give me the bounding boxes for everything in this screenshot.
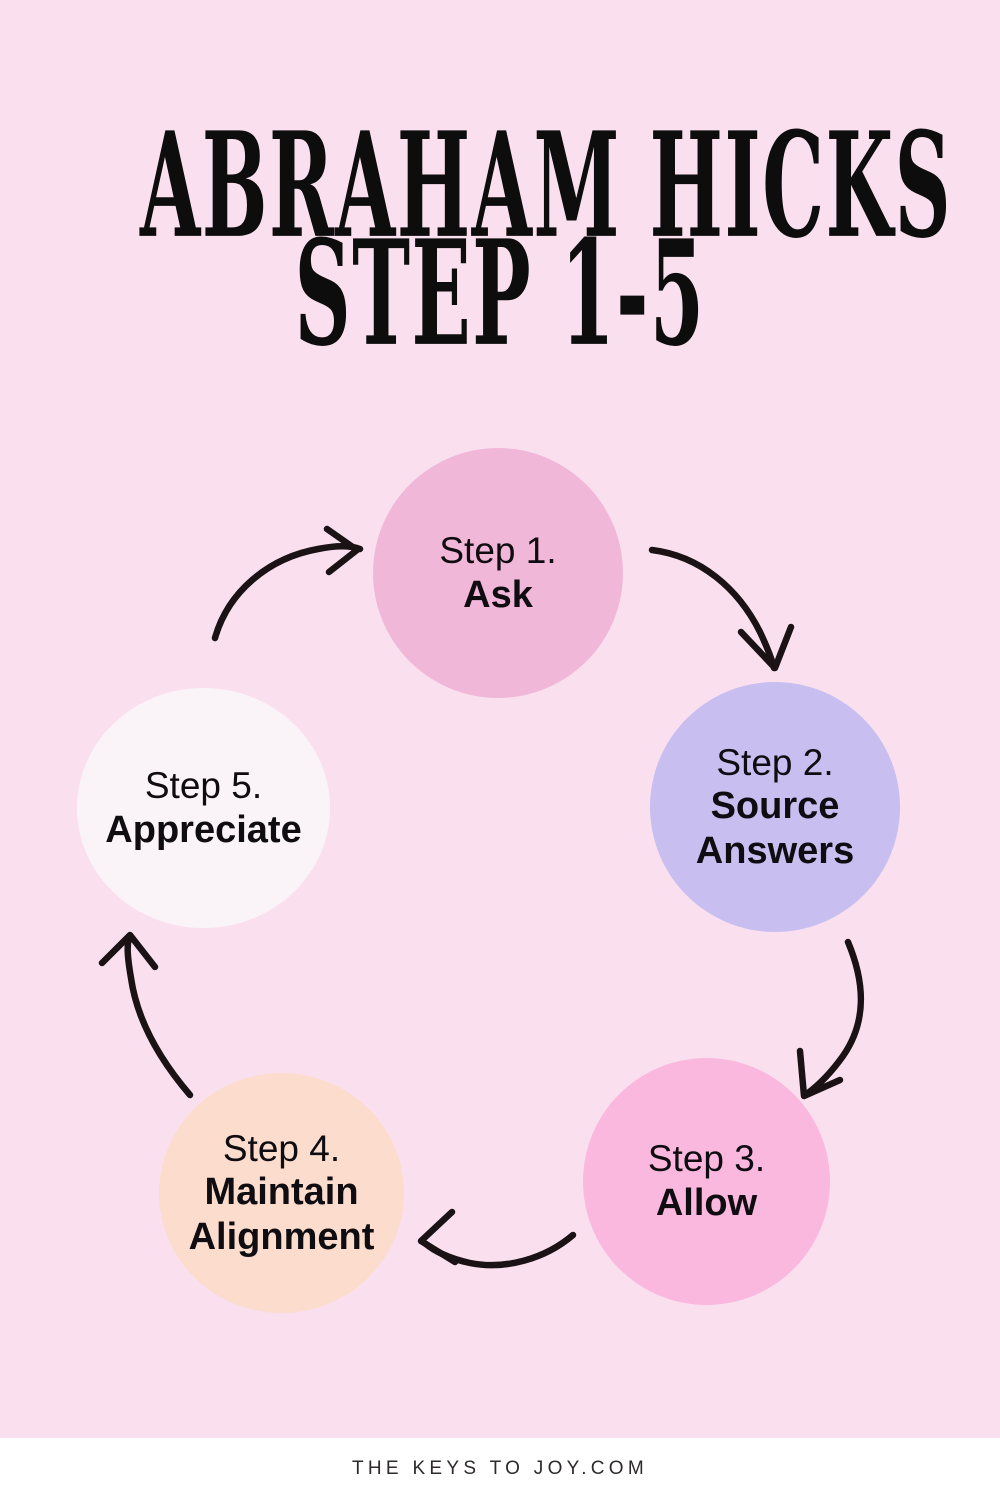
poster-canvas: ABRAHAM HICKS STEP 1-5 xyxy=(0,0,1000,1500)
cycle-diagram: Step 1. Ask Step 2. Source Answers Step … xyxy=(0,0,1000,1500)
step-3-headline: Allow xyxy=(656,1181,757,1225)
step-2-headline-line-2: Answers xyxy=(696,829,854,873)
arrow-step5-to-step1 xyxy=(215,529,360,638)
step-5-eyebrow: Step 5. xyxy=(145,764,262,808)
step-2-headline-line-1: Source xyxy=(711,784,840,828)
step-1-eyebrow: Step 1. xyxy=(439,529,556,573)
arrow-step2-to-step3 xyxy=(800,942,861,1096)
footer-band: THE KEYS TO JOY.COM xyxy=(0,1438,1000,1500)
step-4-headline-line-2: Alignment xyxy=(189,1215,375,1259)
step-4-headline-line-1: Maintain xyxy=(204,1170,358,1214)
arrow-step1-to-step2 xyxy=(652,550,791,668)
step-2-eyebrow: Step 2. xyxy=(716,741,833,785)
cycle-node-step-3[interactable]: Step 3. Allow xyxy=(583,1058,830,1305)
cycle-node-step-2[interactable]: Step 2. Source Answers xyxy=(650,682,900,932)
arrow-step4-to-step5 xyxy=(102,935,190,1095)
site-url: THE KEYS TO JOY.COM xyxy=(352,1458,648,1480)
step-5-headline: Appreciate xyxy=(105,808,301,852)
step-3-eyebrow: Step 3. xyxy=(648,1137,765,1181)
step-1-headline: Ask xyxy=(463,573,533,617)
step-4-eyebrow: Step 4. xyxy=(223,1127,340,1171)
cycle-node-step-1[interactable]: Step 1. Ask xyxy=(373,448,623,698)
cycle-node-step-4[interactable]: Step 4. Maintain Alignment xyxy=(159,1073,404,1313)
cycle-node-step-5[interactable]: Step 5. Appreciate xyxy=(77,688,330,928)
arrow-step3-to-step4 xyxy=(421,1212,573,1265)
